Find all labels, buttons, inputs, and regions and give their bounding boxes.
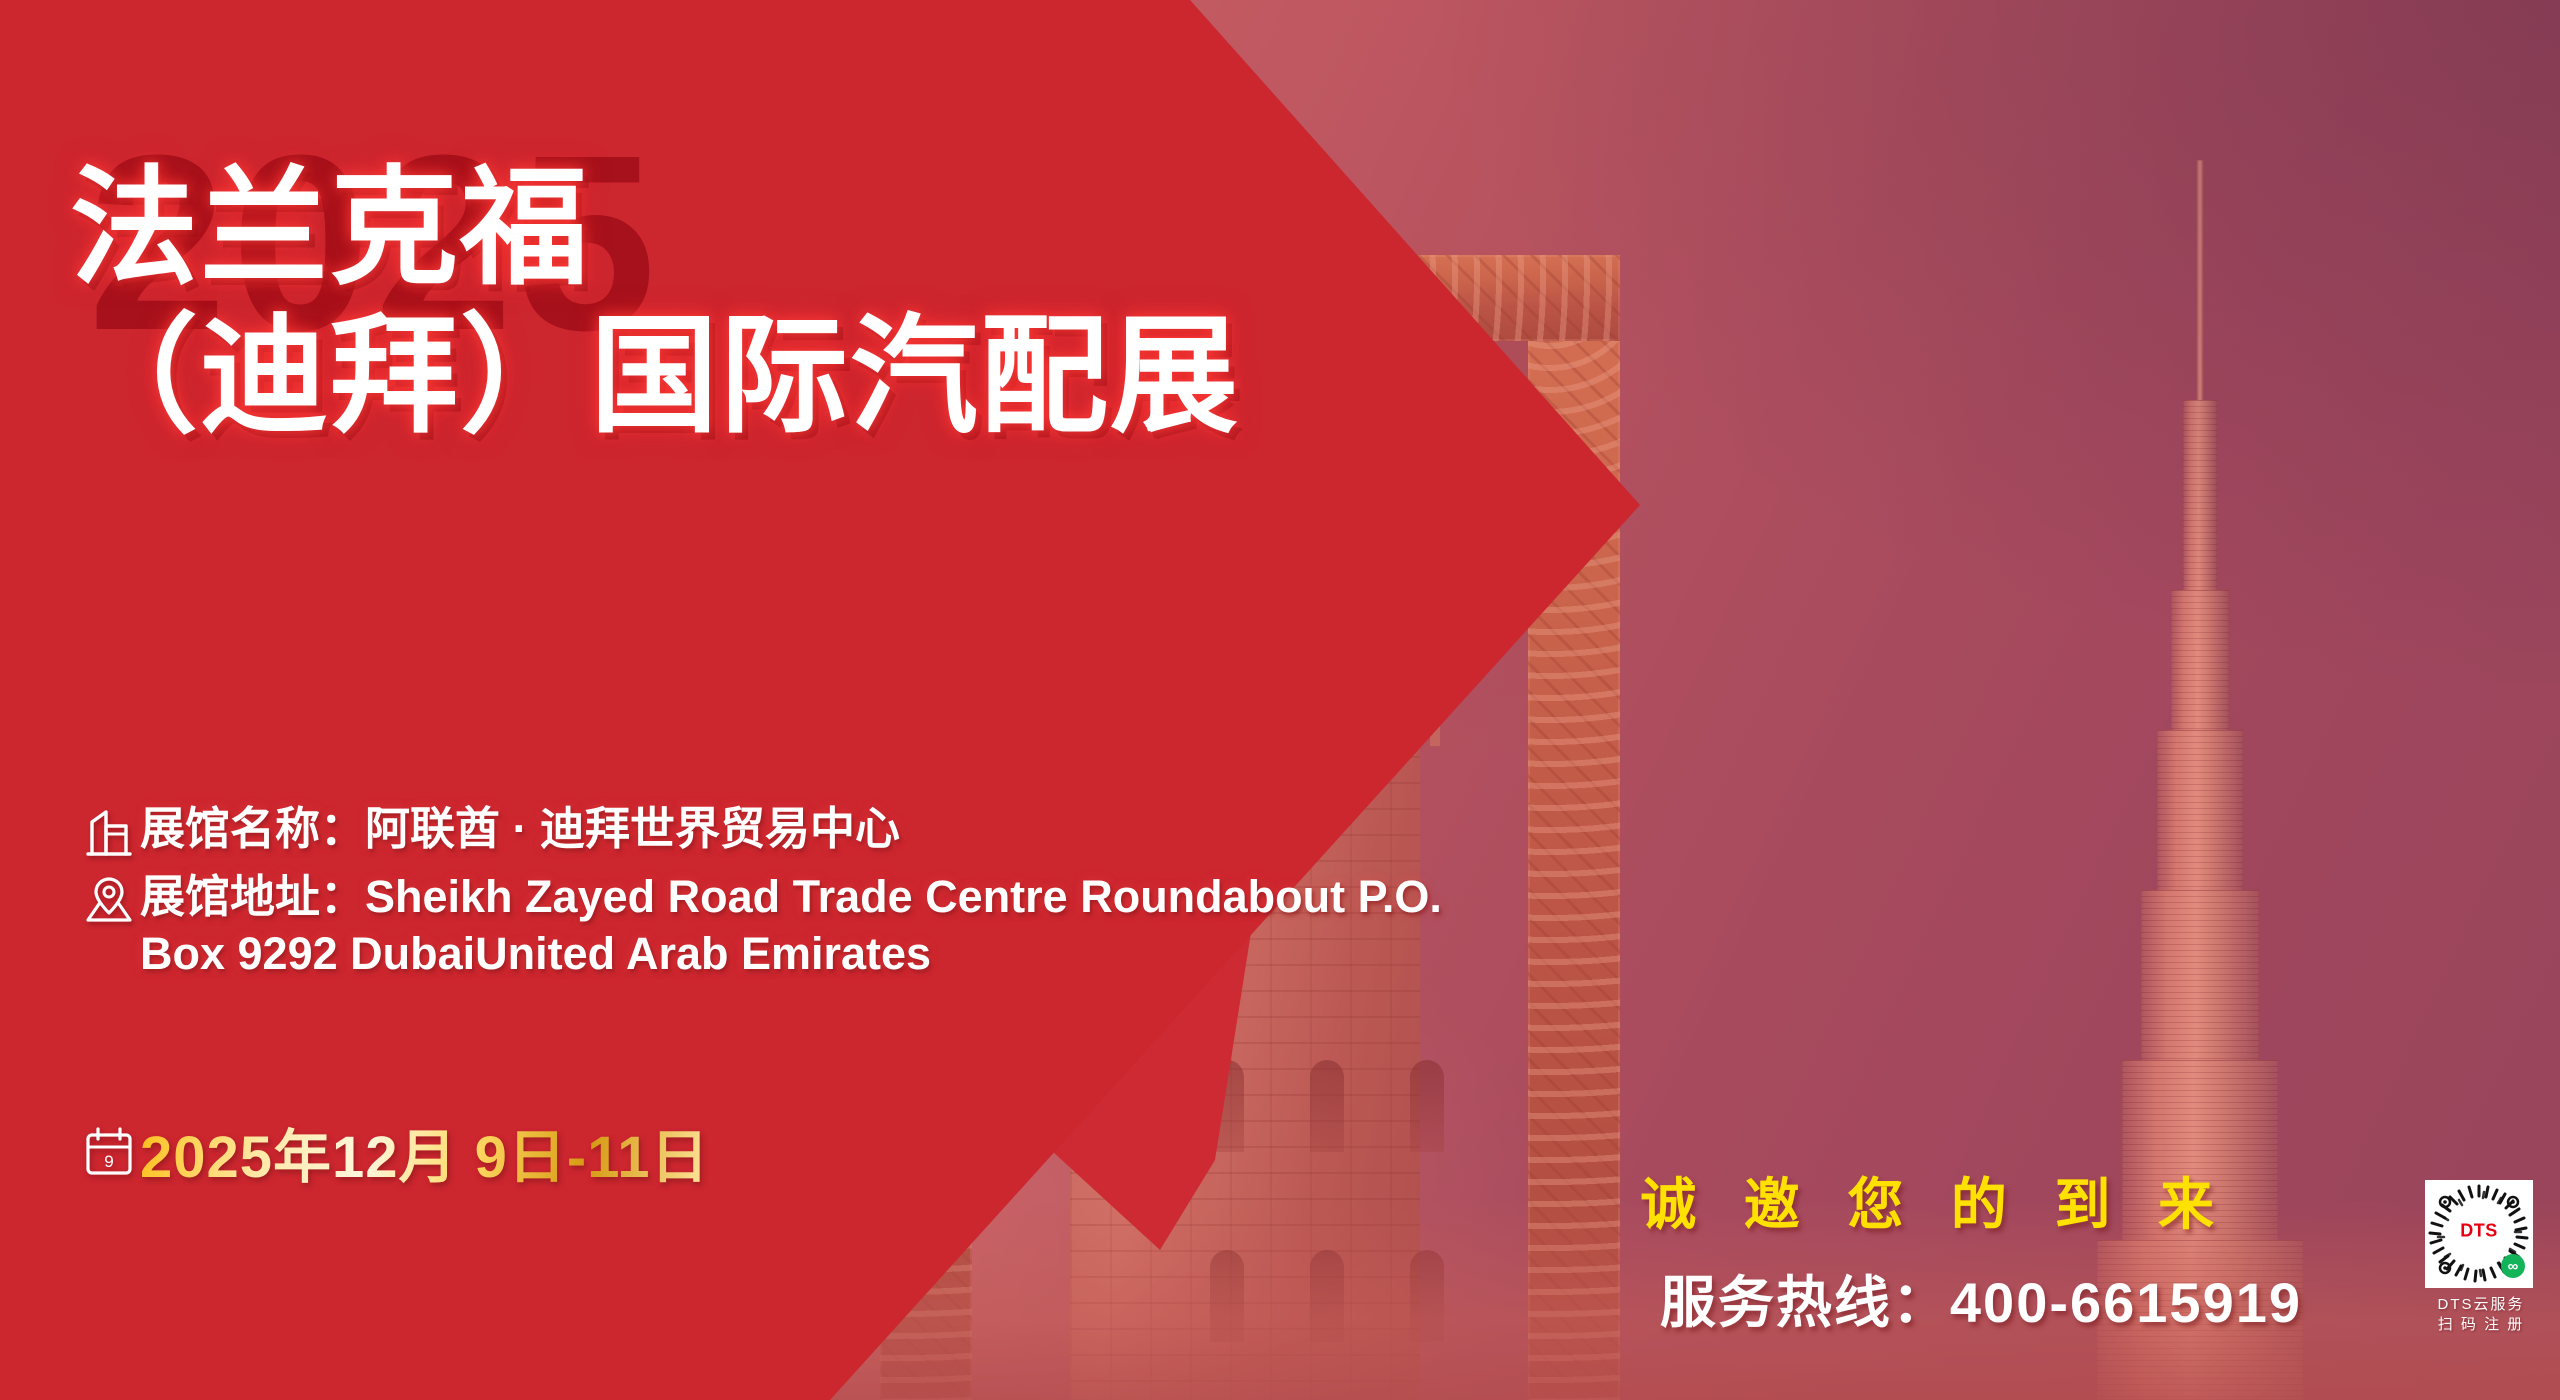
dts-logo-text: DTS bbox=[2460, 1220, 2498, 1241]
service-hotline-text[interactable]: 服务热线：400-6615919 bbox=[1660, 1258, 2302, 1339]
qr-code-image[interactable]: DTS ∞ bbox=[2425, 1180, 2533, 1288]
svg-text:9: 9 bbox=[104, 1152, 113, 1171]
wechat-miniprogram-icon: ∞ bbox=[2501, 1254, 2525, 1278]
venue-info-block: 展馆名称：阿联酋 · 迪拜世界贸易中心 展馆地址：Sheikh Zayed Ro… bbox=[78, 800, 1442, 993]
venue-address-line-2: Box 9292 DubaiUnited Arab Emirates bbox=[140, 925, 1442, 983]
event-date-row: 9 2025年12月 9日-11日 bbox=[78, 1110, 710, 1194]
banner-content: 2025 法兰克福 （迪拜）国际汽配展 展馆名称：阿联酋 · 迪拜世界贸易中心 bbox=[0, 0, 2560, 1400]
venue-address-line-1: 展馆地址：Sheikh Zayed Road Trade Centre Roun… bbox=[140, 871, 1442, 922]
venue-address-row: 展馆地址：Sheikh Zayed Road Trade Centre Roun… bbox=[78, 868, 1442, 983]
exhibition-promo-banner: 2025 法兰克福 （迪拜）国际汽配展 展馆名称：阿联酋 · 迪拜世界贸易中心 bbox=[0, 0, 2560, 1400]
invite-text: 诚 邀 您 的 到 来 bbox=[1640, 1160, 2230, 1241]
qr-caption-line-1: DTS云服务 bbox=[2425, 1295, 2537, 1315]
qr-caption-line-2: 扫 码 注 册 bbox=[2425, 1315, 2537, 1335]
qr-caption: DTS云服务 扫 码 注 册 bbox=[2425, 1295, 2537, 1336]
title-line-1: 法兰克福 bbox=[70, 155, 1240, 303]
location-pin-icon bbox=[78, 868, 140, 924]
venue-name-row: 展馆名称：阿联酋 · 迪拜世界贸易中心 bbox=[78, 800, 1442, 858]
venue-address-text: 展馆地址：Sheikh Zayed Road Trade Centre Roun… bbox=[140, 868, 1442, 983]
page-title: 法兰克福 （迪拜）国际汽配展 bbox=[70, 155, 1240, 452]
qr-code-block[interactable]: DTS ∞ DTS云服务 扫 码 注 册 bbox=[2425, 1180, 2537, 1336]
calendar-icon: 9 bbox=[78, 1125, 140, 1179]
title-line-2: （迪拜）国际汽配展 bbox=[70, 303, 1240, 451]
exhibition-hall-icon bbox=[78, 800, 140, 856]
event-date-text: 2025年12月 9日-11日 bbox=[140, 1110, 710, 1194]
venue-name-text: 展馆名称：阿联酋 · 迪拜世界贸易中心 bbox=[140, 800, 900, 858]
